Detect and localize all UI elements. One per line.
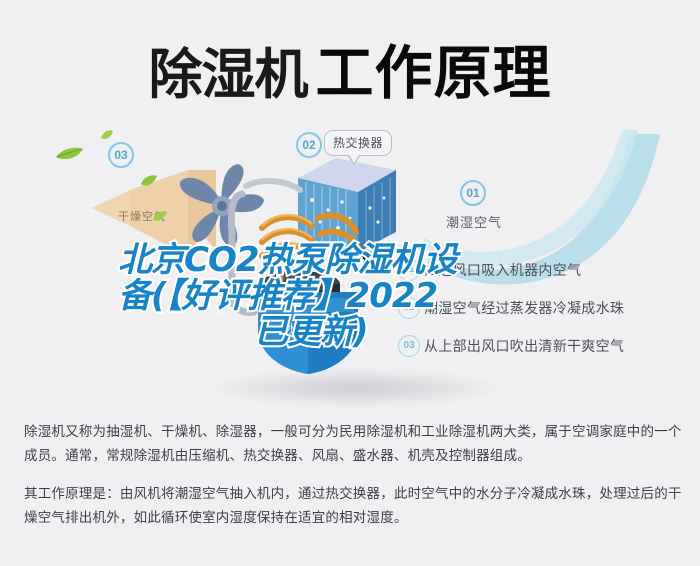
marker-03: 03 xyxy=(108,142,134,168)
humid-air-label: 潮湿空气 xyxy=(446,212,502,231)
page-title-part-2: 工作原理 xyxy=(315,39,551,107)
article-body: 除湿机又称为抽湿机、干燥机、除湿器，一般可分为民用除湿机和工业除湿机两大类，属于… xyxy=(24,420,684,544)
watermark-line-3: 已更新) xyxy=(118,314,618,350)
page-title-part-1: 除湿机 xyxy=(148,43,307,106)
leaf-icon xyxy=(54,146,84,167)
paragraph-2: 其工作原理是：由风机将潮湿空气抽入机内，通过热交换器，此时空气中的水分子冷凝成水… xyxy=(24,482,684,530)
watermark-line-1: 北京CO2热泵除湿机设 xyxy=(118,242,618,278)
watermark-overlay-text: 北京CO2热泵除湿机设 备(【好评推荐】2022 已更新) xyxy=(118,242,618,350)
leaf-icon xyxy=(152,210,168,228)
leaf-icon xyxy=(100,128,114,146)
watermark-line-2: 备(【好评推荐】2022 xyxy=(118,278,618,314)
heat-exchanger-callout: 热交换器 xyxy=(324,130,392,156)
leaf-icon xyxy=(140,174,158,193)
marker-02: 02 xyxy=(296,132,322,158)
paragraph-1: 除湿机又称为抽湿机、干燥机、除湿器，一般可分为民用除湿机和工业除湿机两大类，属于… xyxy=(24,420,684,468)
page-title: 除湿机工作原理 xyxy=(0,26,700,110)
marker-01: 01 xyxy=(460,180,486,206)
infographic-page: 除湿机工作原理 干燥空气 xyxy=(0,0,700,566)
